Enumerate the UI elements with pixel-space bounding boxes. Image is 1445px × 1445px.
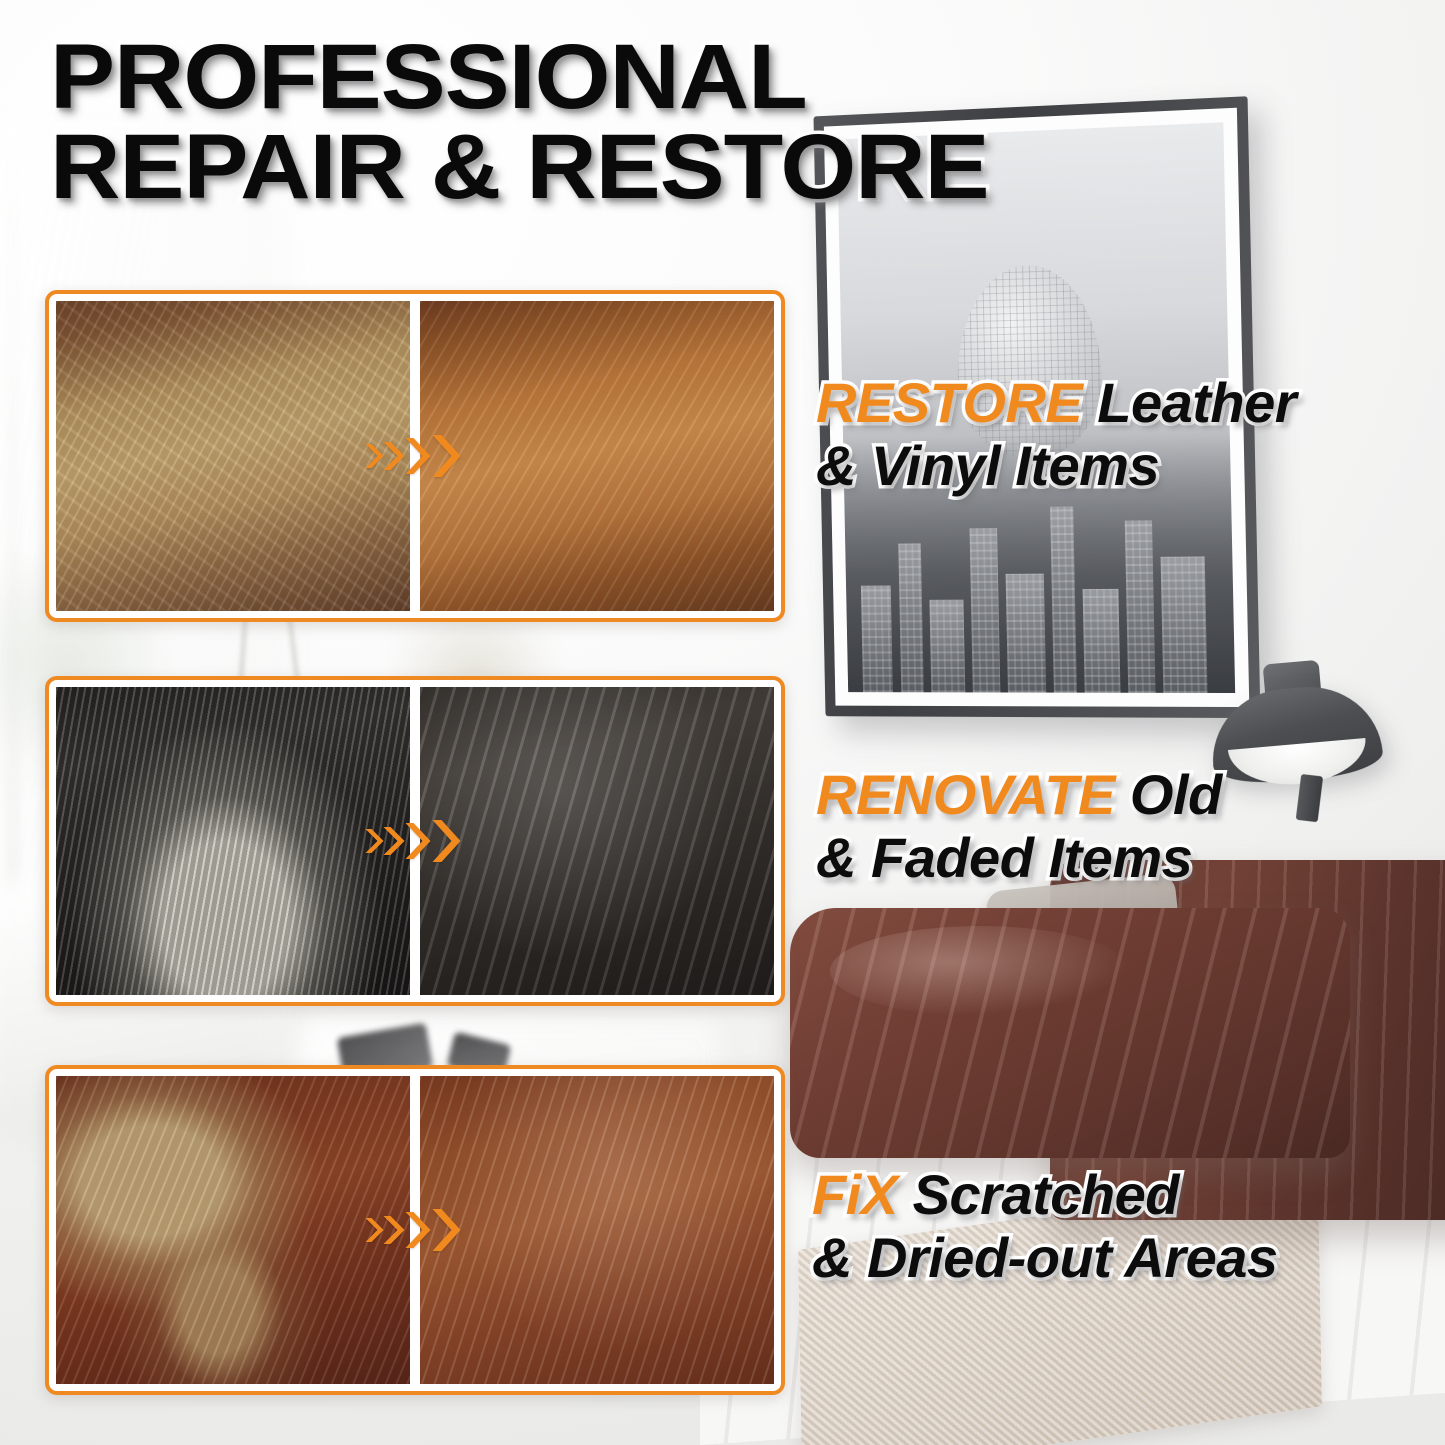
artwork-mat — [824, 108, 1249, 707]
after-photo-sofa-fixed — [420, 1076, 774, 1384]
window-mullion — [8, 150, 18, 910]
brown-leather-sofa — [760, 830, 1445, 1260]
before-after-panel-restore — [45, 290, 785, 622]
after-photo-leather-sofa-restored — [420, 301, 774, 611]
before-photo-armchair-worn — [56, 687, 410, 995]
cityscape-skyline — [843, 430, 1235, 693]
product-feature-image: PROFESSIONAL REPAIR & RESTORE RESTORE Le… — [0, 0, 1445, 1445]
before-photo-leather-sofa-faded — [56, 301, 410, 611]
after-photo-armchair-renovated — [420, 687, 774, 995]
framed-cityscape-artwork — [813, 96, 1260, 718]
floor-lamp — [1204, 641, 1391, 855]
before-after-panel-fix — [45, 1065, 785, 1395]
before-photo-sofa-scratched — [56, 1076, 410, 1384]
before-after-panel-renovate — [45, 676, 785, 1006]
lamp-arm — [1296, 774, 1323, 822]
hot-air-balloon-shape — [956, 263, 1103, 459]
sofa-highlight — [830, 926, 1130, 1016]
artwork-photo — [837, 122, 1235, 693]
